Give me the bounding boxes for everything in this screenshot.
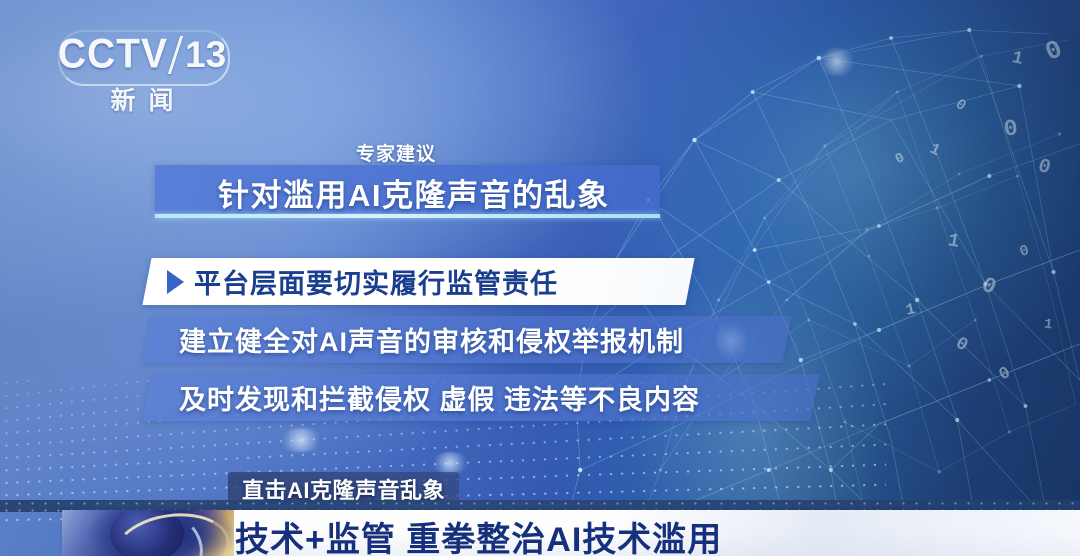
bullet-item-3[interactable]: 及时发现和拦截侵权 虚假 违法等不良内容 <box>147 374 815 421</box>
broadcast-screen: 0 1 0 0 1 0 0 1 0 0 1 0 1 0 CCTV <box>0 0 1080 556</box>
bullet-item-2[interactable]: 建立健全对AI声音的审核和侵权举报机制 <box>147 316 787 363</box>
eyebrow-label: 专家建议 <box>356 139 436 166</box>
bullet-label: 平台层面要切实履行监管责任 <box>194 262 558 301</box>
page-title: 针对滥用AI克隆声音的乱象 <box>218 170 688 215</box>
triangle-right-icon <box>167 270 184 294</box>
lower-third-headline: 技术+监管 重拳整治AI技术滥用 <box>235 512 722 556</box>
bullet-label: 建立健全对AI声音的审核和侵权举报机制 <box>179 320 684 359</box>
content-panel: 专家建议 针对滥用AI克隆声音的乱象 平台层面要切实履行监管责任 建立健全对AI… <box>0 0 1080 556</box>
program-logo-swirl-icon <box>62 510 234 556</box>
bullet-item-1[interactable]: 平台层面要切实履行监管责任 <box>147 258 690 305</box>
bullet-label: 及时发现和拦截侵权 虚假 违法等不良内容 <box>179 378 700 417</box>
